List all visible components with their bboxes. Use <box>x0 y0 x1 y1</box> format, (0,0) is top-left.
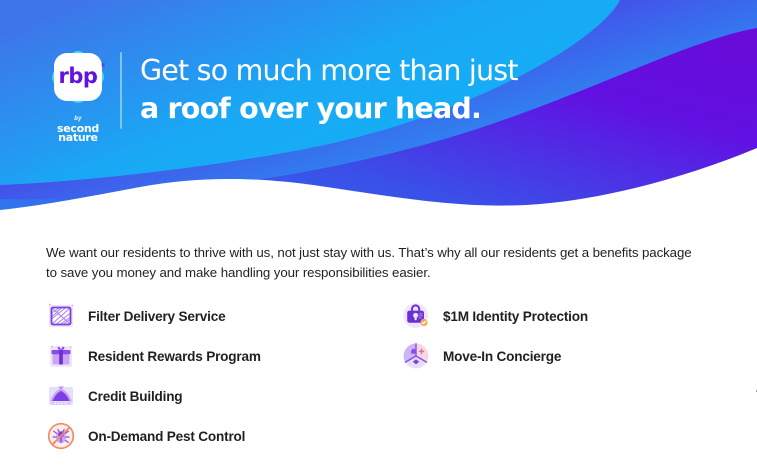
benefit-label: $1M Identity Protection <box>443 309 588 324</box>
benefit-item-credit-building: Credit Building <box>46 376 376 416</box>
air-filter-icon <box>46 301 76 331</box>
rbp-resident-benefits-flyer: rbp ® by second nature Get so much more … <box>0 0 757 471</box>
hero-banner: rbp ® by second nature Get so much more … <box>0 0 757 232</box>
concierge-icon <box>401 341 431 371</box>
benefit-item-pest-control: On-Demand Pest Control <box>46 416 376 456</box>
rbp-wordmark: rbp <box>45 44 111 110</box>
benefit-label: Resident Rewards Program <box>88 349 261 364</box>
no-pest-icon <box>46 421 76 451</box>
benefit-label: On-Demand Pest Control <box>88 429 245 444</box>
benefit-item-filter-delivery: Filter Delivery Service <box>46 296 376 336</box>
gift-box-icon <box>46 341 76 371</box>
benefit-item-resident-rewards: Resident Rewards Program <box>46 336 376 376</box>
benefit-label: Move-In Concierge <box>443 349 561 364</box>
second-nature-line2: nature <box>42 133 114 143</box>
rbp-trademark: ® <box>101 63 105 69</box>
hero-vertical-divider <box>120 52 122 129</box>
rbp-logo: rbp ® by second nature <box>42 44 114 143</box>
benefit-label: Filter Delivery Service <box>88 309 225 324</box>
identity-lock-icon <box>401 301 431 331</box>
benefit-item-move-in-concierge: Move-In Concierge <box>401 336 731 376</box>
benefit-item-identity-protection: $1M Identity Protection <box>401 296 731 336</box>
benefit-label: Credit Building <box>88 389 182 404</box>
second-nature-lockup: by second nature <box>42 115 114 143</box>
hero-headline: Get so much more than just a roof over y… <box>140 52 610 128</box>
benefits-right-column: $1M Identity Protection <box>401 296 731 376</box>
rbp-badge-icon: rbp ® <box>45 44 111 110</box>
headline-line-2: a roof over your head. <box>140 90 610 128</box>
benefits-left-column: Filter Delivery Service Resident <box>46 296 376 456</box>
credit-chart-icon <box>46 381 76 411</box>
headline-line-1: Get so much more than just <box>140 52 610 90</box>
intro-paragraph: We want our residents to thrive with us,… <box>46 243 701 283</box>
